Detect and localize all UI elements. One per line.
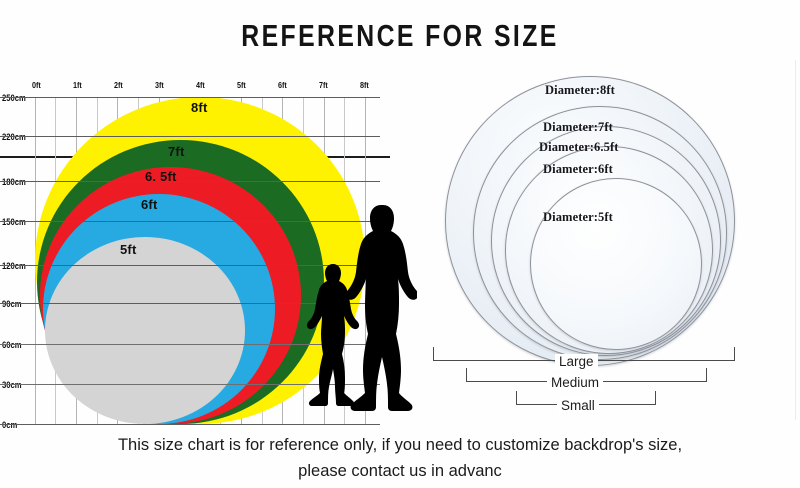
y-tick-60cm: 60cm — [2, 340, 22, 350]
x-tick-2ft: 2ft — [114, 80, 123, 90]
x-tick-6ft: 6ft — [278, 80, 287, 90]
y-tick-150cm: 150cm — [2, 217, 26, 227]
x-tick-1ft: 1ft — [73, 80, 82, 90]
footer-note: This size chart is for reference only, i… — [0, 432, 800, 484]
y-tick-250cm: 250cm — [2, 93, 26, 103]
y-tick-90cm: 90cm — [2, 299, 22, 309]
bracket-label-small: Small — [557, 398, 599, 413]
ring-label-6ft: 6ft — [141, 197, 158, 212]
y-tick-180cm: 180cm — [2, 177, 26, 187]
ring-label-8ft: 8ft — [191, 100, 208, 115]
disc-label-7ft: Diameter:7ft — [543, 120, 613, 135]
y-tick-30cm: 30cm — [2, 380, 22, 390]
page-title: REFERENCE FOR SIZE — [80, 18, 720, 54]
footer-line-1: This size chart is for reference only, i… — [0, 432, 800, 458]
size-reference-chart: REFERENCE FOR SIZE 0ft 1ft 2ft 3ft 4ft 5… — [0, 0, 800, 488]
x-tick-4ft: 4ft — [196, 80, 205, 90]
plot-area: 8ft 7ft 6. 5ft 6ft 5ft — [35, 97, 365, 424]
y-tick-220cm: 220cm — [2, 132, 26, 142]
x-tick-7ft: 7ft — [319, 80, 328, 90]
bracket-label-medium: Medium — [547, 375, 603, 390]
footer-line-2: please contact us in advanc — [0, 458, 800, 484]
x-tick-0ft: 0ft — [32, 80, 41, 90]
x-tick-5ft: 5ft — [237, 80, 246, 90]
disc-label-6-5ft: Diameter:6.5ft — [539, 140, 618, 155]
x-tick-8ft: 8ft — [360, 80, 369, 90]
y-tick-0cm: 0cm — [2, 420, 17, 430]
disc-5ft — [530, 178, 702, 350]
x-tick-3ft: 3ft — [155, 80, 164, 90]
y-tick-120cm: 120cm — [2, 261, 26, 271]
adult-silhouette — [345, 203, 417, 427]
right-edge-line — [795, 60, 796, 420]
disc-label-8ft: Diameter:8ft — [545, 83, 615, 98]
bracket-label-large: Large — [555, 354, 598, 369]
left-chart-panel: 0ft 1ft 2ft 3ft 4ft 5ft 6ft 7ft 8ft 250c… — [0, 60, 420, 435]
ring-label-6-5ft: 6. 5ft — [145, 169, 177, 184]
ring-label-7ft: 7ft — [168, 144, 185, 159]
right-disc-panel: Diameter:8ft Diameter:7ft Diameter:6.5ft… — [425, 58, 800, 438]
disc-label-6ft: Diameter:6ft — [543, 162, 613, 177]
disc-label-5ft: Diameter:5ft — [543, 210, 613, 225]
ring-label-5ft: 5ft — [120, 242, 137, 257]
